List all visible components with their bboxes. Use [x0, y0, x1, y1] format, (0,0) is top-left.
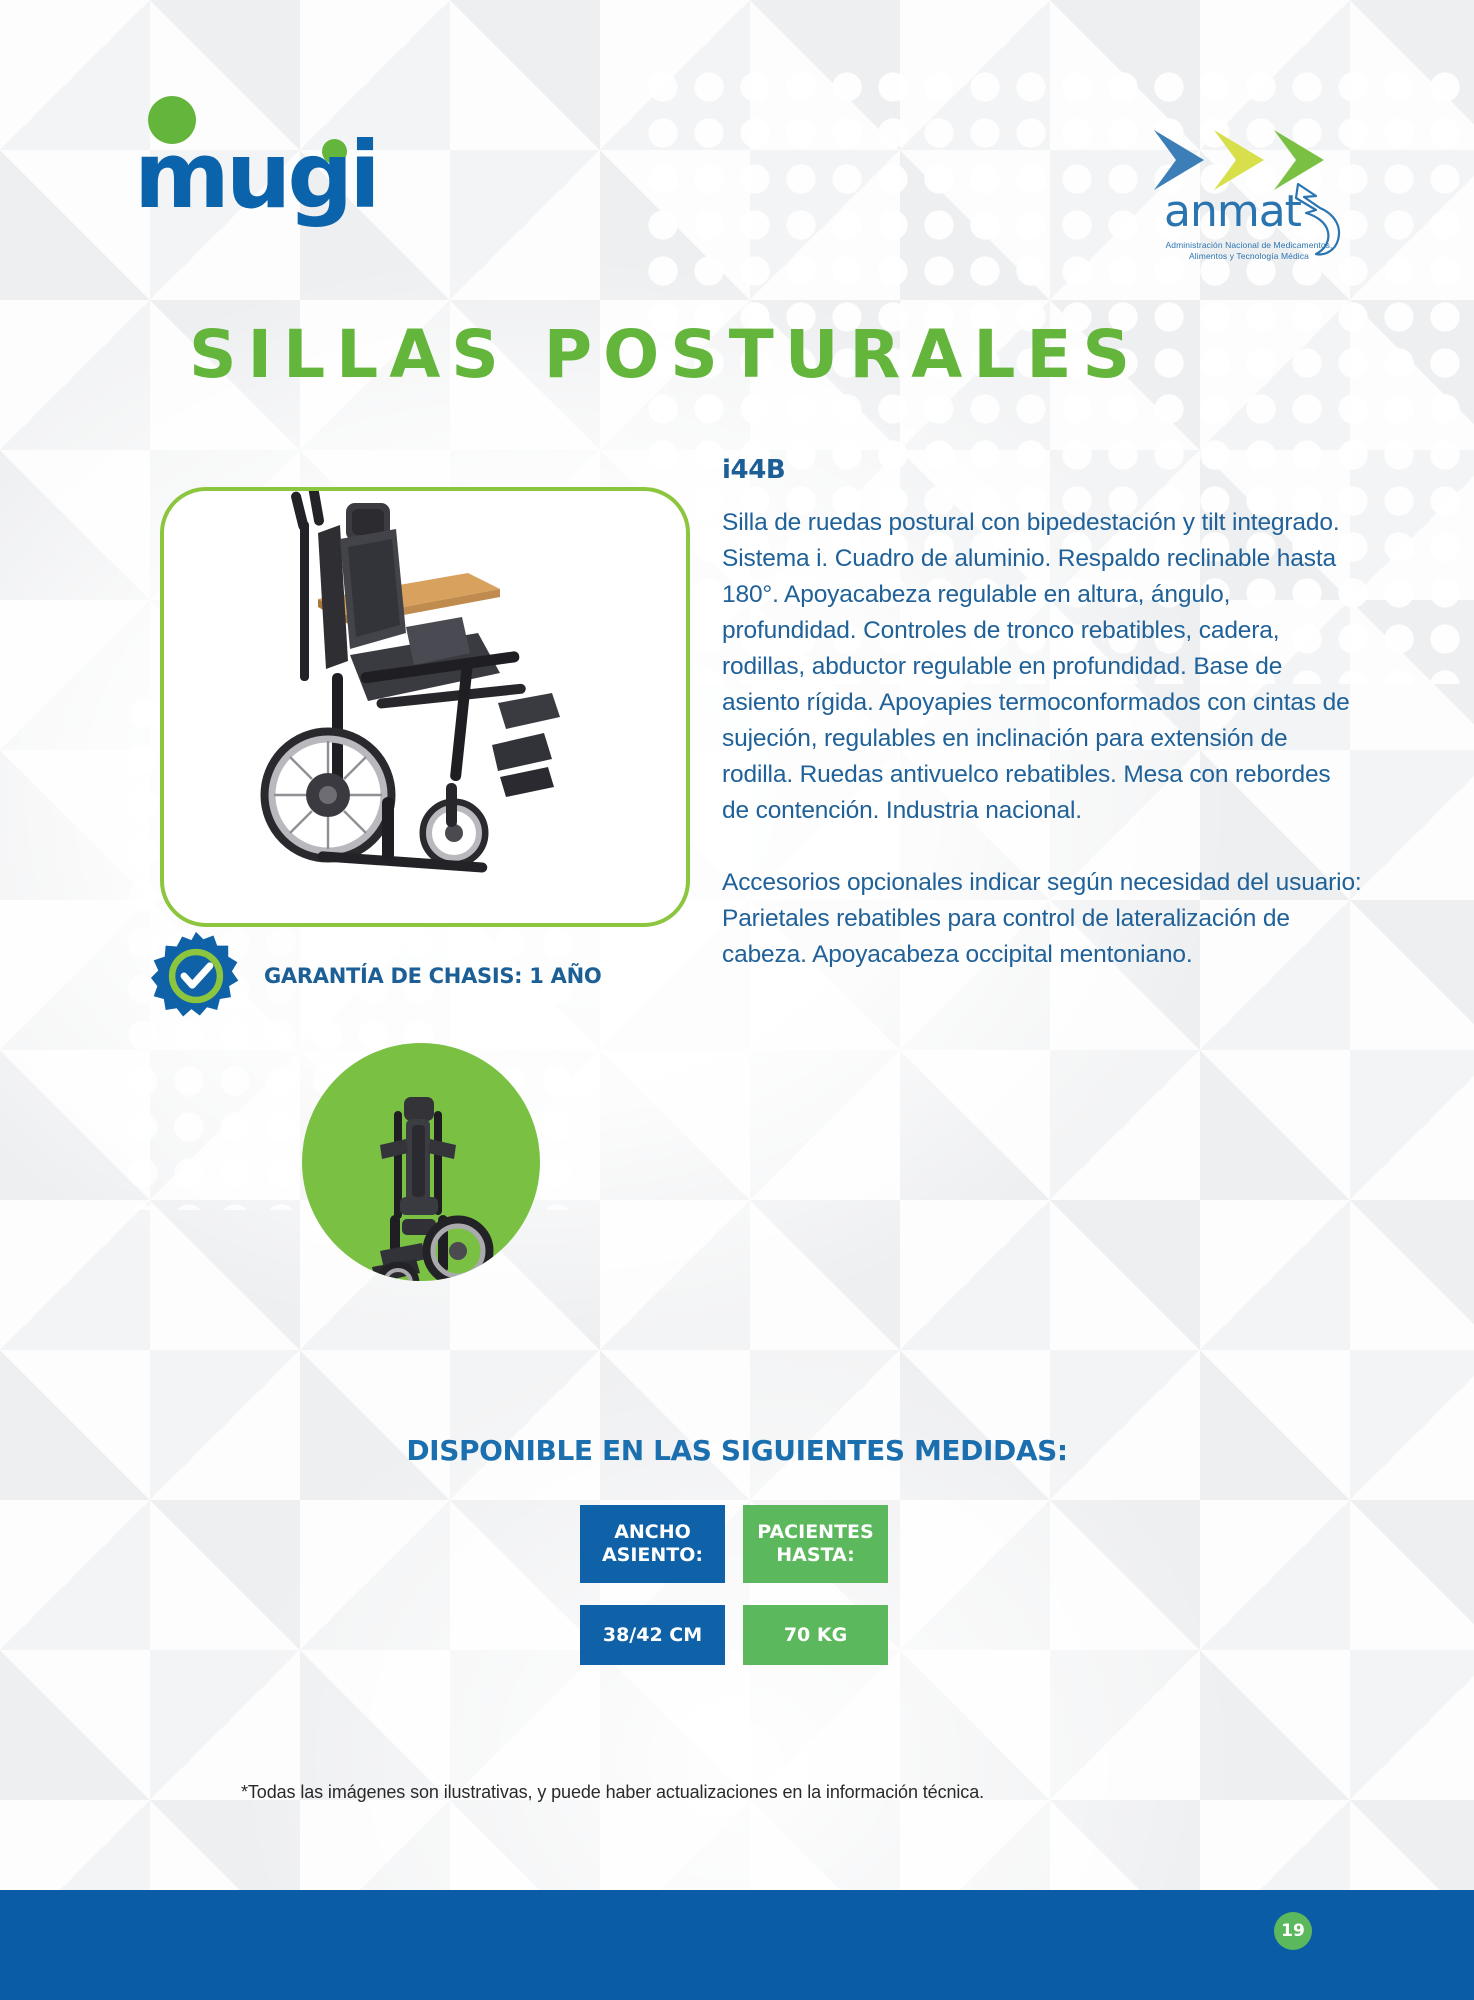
anmat-logo: anmat Administración Nacional de Medicam… [1142, 128, 1362, 280]
anmat-wordmark: anmat [1164, 190, 1301, 234]
measure-value-seat-width: 38/42 CM [580, 1605, 725, 1665]
measure-value-patient-weight: 70 KG [743, 1605, 888, 1665]
measure-header-seat-width: ANCHO ASIENTO: [580, 1505, 725, 1583]
measure-column-seat-width: ANCHO ASIENTO: 38/42 CM [580, 1505, 725, 1665]
wheelchair-photo [200, 487, 660, 927]
measures-table: ANCHO ASIENTO: 38/42 CM PACIENTES HASTA:… [580, 1505, 888, 1665]
page-header: mugi anmat Administración Nacional de Me… [0, 0, 1474, 250]
mugi-logo: mugi [134, 96, 394, 216]
measure-header-patient-weight-line1: PACIENTES [757, 1521, 873, 1543]
mugi-logo-wordmark: mugi [134, 132, 377, 220]
anmat-subtitle-line2: Alimentos y Tecnología Médica [1154, 251, 1344, 262]
measure-header-seat-width-line1: ANCHO [614, 1521, 691, 1543]
product-description-accessories: Accesorios opcionales indicar según nece… [722, 865, 1362, 973]
anmat-subtitle-line1: Administración Nacional de Medicamentos, [1154, 240, 1344, 251]
measures-heading: DISPONIBLE EN LAS SIGUIENTES MEDIDAS: [0, 1434, 1474, 1467]
footer-bar: 19 [0, 1890, 1474, 2000]
measure-header-patient-weight-line2: HASTA: [776, 1544, 854, 1566]
anmat-subtitle: Administración Nacional de Medicamentos,… [1154, 240, 1344, 263]
measure-column-patient-weight: PACIENTES HASTA: 70 KG [743, 1505, 888, 1665]
catalog-page: mugi anmat Administración Nacional de Me… [0, 0, 1474, 2000]
warranty-block: GARANTÍA DE CHASIS: 1 AÑO [150, 930, 601, 1022]
page-number-badge: 19 [1274, 1912, 1312, 1950]
product-code: i44B [722, 455, 1362, 485]
warranty-label: GARANTÍA DE CHASIS: 1 AÑO [264, 964, 601, 988]
product-info: i44B Silla de ruedas postural con bipede… [722, 455, 1362, 973]
warranty-seal-icon [150, 930, 242, 1022]
product-description-primary: Silla de ruedas postural con bipedestaci… [722, 505, 1362, 829]
measure-header-patient-weight: PACIENTES HASTA: [743, 1505, 888, 1583]
product-photo-card [160, 487, 690, 927]
measure-header-seat-width-line2: ASIENTO: [602, 1544, 703, 1566]
page-title: SILLAS POSTURALES [0, 316, 1330, 393]
stander-photo-circle [302, 1043, 540, 1281]
wheelchair-standing-photo [320, 1043, 526, 1281]
disclaimer-text: *Todas las imágenes son ilustrativas, y … [0, 1782, 1225, 1803]
